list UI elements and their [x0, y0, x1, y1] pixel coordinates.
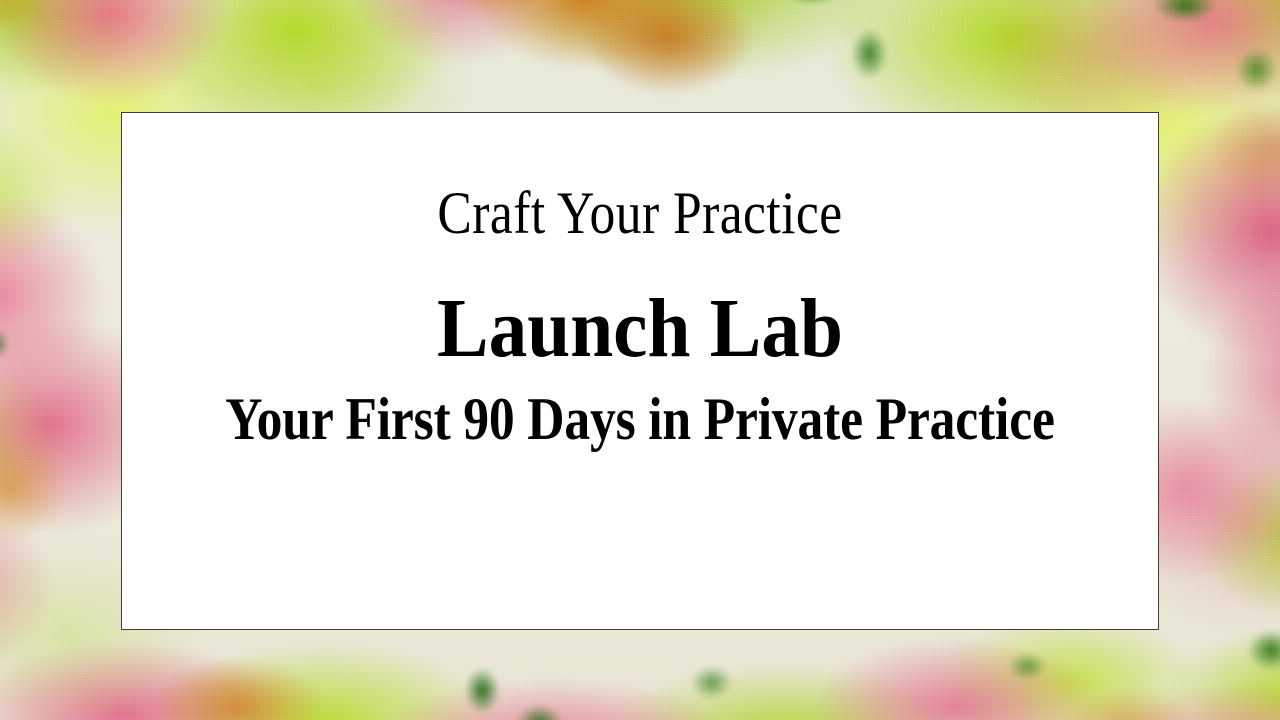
page-title: Launch Lab: [163, 287, 1116, 371]
content-card: Craft Your Practice Launch Lab Your Firs…: [121, 112, 1159, 630]
subtitle-text: Your First 90 Days in Private Practice: [195, 389, 1086, 449]
title-slide: Craft Your Practice Launch Lab Your Firs…: [0, 0, 1280, 720]
eyebrow-text: Craft Your Practice: [195, 183, 1086, 243]
